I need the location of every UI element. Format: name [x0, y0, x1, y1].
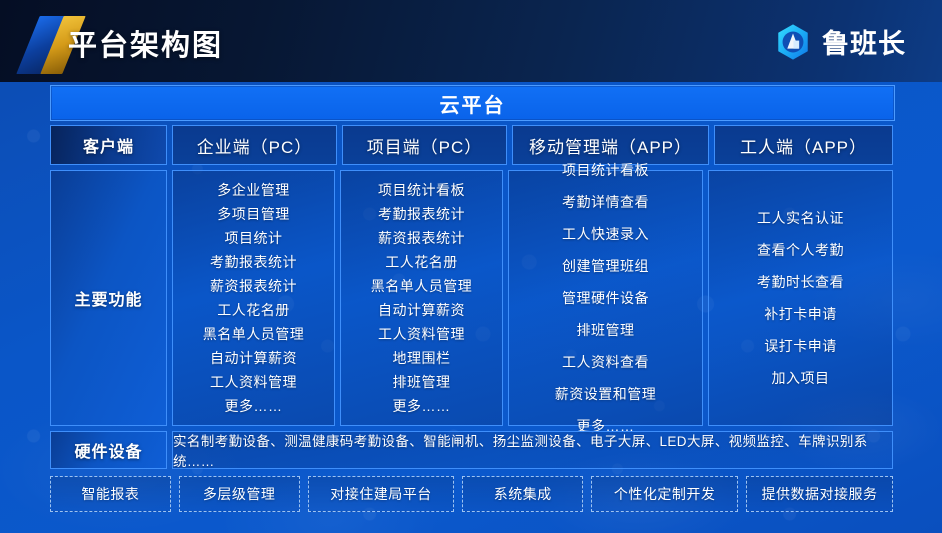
hardware-row: 硬件设备 实名制考勤设备、测温健康码考勤设备、智能闸机、扬尘监测设备、电子大屏、…: [50, 431, 893, 469]
feature-item[interactable]: 自动计算薪资: [378, 298, 465, 322]
row-label-hardware: 硬件设备: [50, 431, 167, 469]
feature-item[interactable]: 考勤时长查看: [757, 266, 844, 298]
feature-item[interactable]: 补打卡申请: [764, 298, 837, 330]
feature-item[interactable]: 薪资报表统计: [378, 226, 465, 250]
feature-item[interactable]: 工人资料管理: [378, 322, 465, 346]
hardware-device-list: 实名制考勤设备、测温健康码考勤设备、智能闸机、扬尘监测设备、电子大屏、LED大屏…: [172, 431, 893, 469]
service-tag-multilevel-management[interactable]: 多层级管理: [179, 476, 300, 512]
feature-item[interactable]: 工人资料管理: [210, 370, 297, 394]
feature-item-more[interactable]: 更多……: [393, 394, 451, 418]
service-tag-data-integration-service[interactable]: 提供数据对接服务: [746, 476, 893, 512]
feature-item[interactable]: 考勤报表统计: [210, 250, 297, 274]
feature-item[interactable]: 项目统计: [225, 226, 283, 250]
feature-item[interactable]: 管理硬件设备: [562, 282, 649, 314]
feature-item[interactable]: 工人资料查看: [562, 346, 649, 378]
hexagon-building-icon: [774, 23, 812, 61]
page-header: 平台架构图 鲁班长: [0, 0, 942, 82]
feature-column-worker-app: 工人实名认证 查看个人考勤 考勤时长查看 补打卡申请 误打卡申请 加入项目: [708, 170, 893, 426]
feature-item[interactable]: 多企业管理: [217, 178, 290, 202]
feature-item[interactable]: 工人快速录入: [562, 218, 649, 250]
client-header-project-pc[interactable]: 项目端（PC）: [342, 125, 507, 165]
row-label-main-functions: 主要功能: [50, 170, 167, 426]
client-header-row: 客户端 企业端（PC） 项目端（PC） 移动管理端（APP） 工人端（APP）: [50, 125, 893, 165]
feature-item[interactable]: 多项目管理: [217, 202, 290, 226]
feature-item[interactable]: 项目统计看板: [562, 154, 649, 186]
service-tag-custom-development[interactable]: 个性化定制开发: [591, 476, 738, 512]
feature-item[interactable]: 创建管理班组: [562, 250, 649, 282]
architecture-grid: 客户端 企业端（PC） 项目端（PC） 移动管理端（APP） 工人端（APP） …: [50, 125, 893, 512]
feature-column-project-pc: 项目统计看板 考勤报表统计 薪资报表统计 工人花名册 黑名单人员管理 自动计算薪…: [340, 170, 503, 426]
feature-item[interactable]: 排班管理: [393, 370, 451, 394]
brand: 鲁班长: [774, 22, 906, 61]
feature-column-mobile-app: 项目统计看板 考勤详情查看 工人快速录入 创建管理班组 管理硬件设备 排班管理 …: [508, 170, 703, 426]
service-tag-housing-bureau-platform[interactable]: 对接住建局平台: [308, 476, 455, 512]
client-header-worker-app[interactable]: 工人端（APP）: [714, 125, 893, 165]
feature-item[interactable]: 地理围栏: [393, 346, 451, 370]
service-tag-system-integration[interactable]: 系统集成: [462, 476, 583, 512]
platform-architecture-diagram: 平台架构图 鲁班长 云平台 客户端 企业端: [0, 0, 942, 533]
client-header-enterprise-pc[interactable]: 企业端（PC）: [172, 125, 337, 165]
feature-item[interactable]: 黑名单人员管理: [371, 274, 473, 298]
brand-name: 鲁班长: [822, 22, 906, 61]
feature-item[interactable]: 排班管理: [577, 314, 635, 346]
feature-item[interactable]: 自动计算薪资: [210, 346, 297, 370]
feature-item[interactable]: 项目统计看板: [378, 178, 465, 202]
feature-item[interactable]: 误打卡申请: [764, 330, 837, 362]
feature-item[interactable]: 工人花名册: [217, 298, 290, 322]
feature-item[interactable]: 查看个人考勤: [757, 234, 844, 266]
feature-item[interactable]: 薪资设置和管理: [555, 378, 657, 410]
main-functions-row: 主要功能 多企业管理 多项目管理 项目统计 考勤报表统计 薪资报表统计 工人花名…: [50, 170, 893, 426]
feature-item[interactable]: 加入项目: [772, 362, 830, 394]
feature-item[interactable]: 考勤详情查看: [562, 186, 649, 218]
service-tag-smart-report[interactable]: 智能报表: [50, 476, 171, 512]
service-tag-row: 智能报表 多层级管理 对接住建局平台 系统集成 个性化定制开发 提供数据对接服务: [50, 476, 893, 512]
feature-column-enterprise-pc: 多企业管理 多项目管理 项目统计 考勤报表统计 薪资报表统计 工人花名册 黑名单…: [172, 170, 335, 426]
cloud-platform-banner: 云平台: [50, 85, 895, 121]
feature-item[interactable]: 工人花名册: [385, 250, 458, 274]
feature-item[interactable]: 黑名单人员管理: [203, 322, 305, 346]
feature-item[interactable]: 工人实名认证: [757, 202, 844, 234]
page-title: 平台架构图: [68, 22, 223, 64]
feature-item[interactable]: 考勤报表统计: [378, 202, 465, 226]
feature-item-more[interactable]: 更多……: [225, 394, 283, 418]
feature-item[interactable]: 薪资报表统计: [210, 274, 297, 298]
row-label-client: 客户端: [50, 125, 167, 165]
